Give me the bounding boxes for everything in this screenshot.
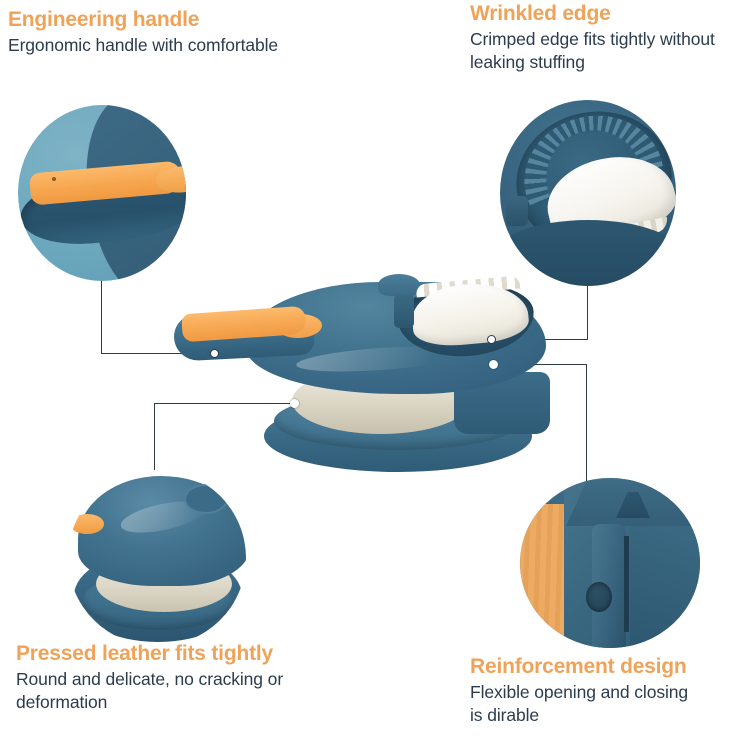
hero-hinge-tab [394,294,414,328]
connector-crimp-vertical [587,282,588,340]
callout-body-pressed-leather: Round and delicate, no cracking or defor… [16,668,316,715]
marker-press-disc [290,399,299,408]
callout-title-wrinkled-edge: Wrinkled edge [470,2,750,26]
infographic-canvas: Engineering handle Ergonomic handle with… [0,0,750,745]
connector-handle-vertical [101,278,102,354]
hero-product-dumpling-maker [168,276,578,476]
callout-body-engineering-handle: Ergonomic handle with comfortable [8,34,348,57]
bubble-press-orange-grip-edge [70,514,104,534]
bubble-crimped-edge-detail [500,100,676,286]
marker-handle [210,349,219,358]
callout-reinforcement-design: Reinforcement design Flexible opening an… [470,655,750,727]
callout-body-wrinkled-edge: Crimped edge fits tightly without leakin… [470,28,750,75]
bubble-hinge-gap [624,536,629,632]
callout-wrinkled-edge: Wrinkled edge Crimped edge fits tightly … [470,2,750,74]
bubble-hinge-detail [520,478,700,648]
bubble-crimp-hinge-pad [506,196,528,226]
callout-pressed-leather: Pressed leather fits tightly Round and d… [16,642,416,714]
bubble-press-knob [184,484,228,514]
callout-engineering-handle: Engineering handle Ergonomic handle with… [8,8,348,57]
marker-hinge [489,360,498,369]
marker-crimp [487,335,496,344]
bubble-press-detail [68,470,246,646]
callout-title-reinforcement-design: Reinforcement design [470,655,750,679]
connector-reinforcement-vertical [586,364,587,484]
bubble-hinge-pin [586,582,612,612]
callout-title-engineering-handle: Engineering handle [8,8,348,32]
bubble-handle-pinhole [52,177,56,181]
callout-body-reinforcement-design: Flexible opening and closing is dirable [470,681,700,728]
hero-top-nub [378,274,420,296]
bubble-hinge-shading [630,518,700,648]
bubble-handle-detail [18,105,186,281]
